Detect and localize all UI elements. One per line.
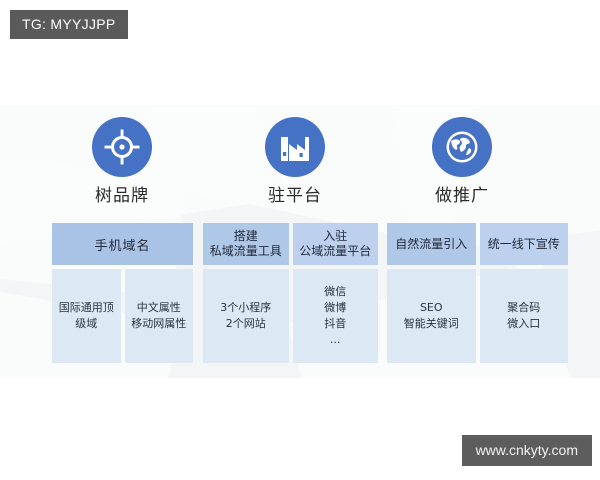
body-line: 微入口: [507, 316, 540, 332]
pillar-head-brand: 树品牌: [42, 117, 202, 205]
pillar-card-groups: 手机域名 国际通用顶 级域 中文属性 移动网属性: [0, 223, 600, 363]
card-body-public-traffic: 微信 微博 抖音 ...: [293, 269, 379, 363]
pillar-label-platform: 驻平台: [215, 188, 375, 205]
body-line: 3个小程序: [220, 300, 271, 316]
body-line: 抖音: [324, 316, 346, 332]
card-public-traffic-platform[interactable]: 入驻 公域流量平台 微信 微博 抖音 ...: [293, 223, 379, 363]
pillar-head-platform: 驻平台: [215, 117, 375, 205]
card-body-private-traffic: 3个小程序 2个网站: [203, 269, 289, 363]
body-line: 聚合码: [507, 300, 540, 316]
header-line: 入驻: [299, 229, 371, 244]
header-line: 统一线下宣传: [488, 237, 560, 252]
globe-icon: [432, 117, 492, 177]
body-line: SEO: [404, 300, 459, 316]
body-line: 2个网站: [220, 316, 271, 332]
card-group-platform: 搭建 私域流量工具 3个小程序 2个网站 入驻: [203, 223, 378, 363]
card-offline-promotion[interactable]: 统一线下宣传 聚合码 微入口: [480, 223, 569, 363]
pillar-label-promotion: 做推广: [382, 188, 542, 205]
pillar-head-promotion: 做推广: [382, 117, 542, 205]
pillar-label-brand: 树品牌: [42, 188, 202, 205]
body-line: 国际通用顶: [59, 300, 114, 316]
factory-icon: [265, 117, 325, 177]
header-line: 私域流量工具: [210, 244, 282, 259]
card-header-organic-traffic: 自然流量引入: [387, 223, 476, 265]
tg-watermark-tag: TG: MYYJJPP: [10, 10, 128, 39]
card-header-public-traffic: 入驻 公域流量平台: [293, 223, 379, 265]
card-header-offline-promotion: 统一线下宣传: [480, 223, 569, 265]
site-watermark: www.cnkyty.com: [462, 435, 592, 466]
card-private-traffic-tools[interactable]: 搭建 私域流量工具 3个小程序 2个网站: [203, 223, 289, 363]
card-brand-domain[interactable]: 手机域名 国际通用顶 级域 中文属性 移动网属性: [52, 223, 193, 363]
header-line: 搭建: [210, 229, 282, 244]
crosshair-target-icon: [92, 117, 152, 177]
card-group-promotion: 自然流量引入 SEO 智能关键词 统一线下宣传: [387, 223, 568, 363]
pillar-heads-row: 树品牌 驻平台: [0, 105, 600, 215]
body-line: ...: [324, 332, 346, 348]
card-body-brand-2: 中文属性 移动网属性: [125, 269, 194, 363]
header-line: 公域流量平台: [299, 244, 371, 259]
body-line: 智能关键词: [404, 316, 459, 332]
diagram-panel: 树品牌 驻平台: [0, 105, 600, 378]
header-line: 自然流量引入: [395, 237, 467, 252]
card-body-organic-traffic: SEO 智能关键词: [387, 269, 476, 363]
card-organic-traffic[interactable]: 自然流量引入 SEO 智能关键词: [387, 223, 476, 363]
card-header-private-traffic: 搭建 私域流量工具: [203, 223, 289, 265]
card-body-offline-promotion: 聚合码 微入口: [480, 269, 569, 363]
card-header-brand-domain: 手机域名: [52, 223, 193, 265]
card-body-brand-1: 国际通用顶 级域: [52, 269, 121, 363]
card-group-brand: 手机域名 国际通用顶 级域 中文属性 移动网属性: [52, 223, 193, 363]
body-line: 级域: [59, 316, 114, 332]
body-line: 微信: [324, 284, 346, 300]
body-line: 移动网属性: [131, 316, 186, 332]
body-line: 中文属性: [131, 300, 186, 316]
body-line: 微博: [324, 300, 346, 316]
